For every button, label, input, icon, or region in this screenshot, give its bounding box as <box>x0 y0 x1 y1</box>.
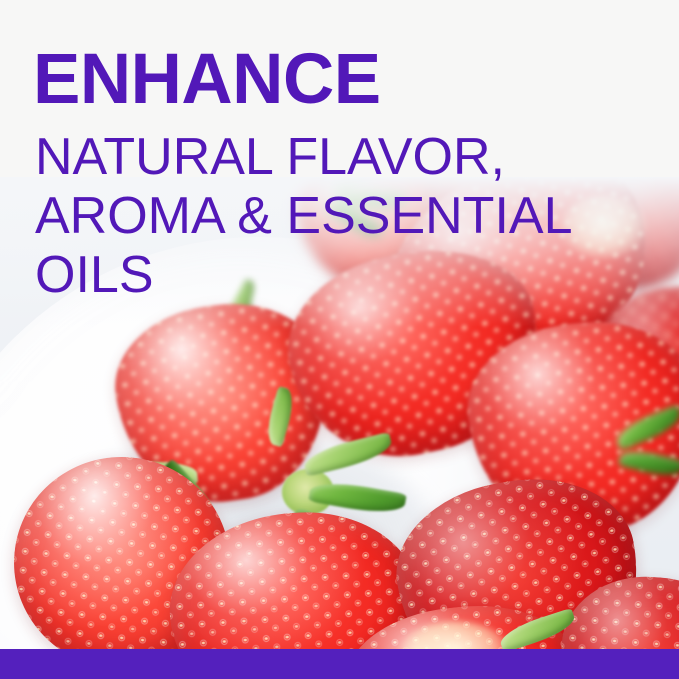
bottom-accent-bar <box>0 649 679 679</box>
strawberry-hero-highlight <box>560 195 646 259</box>
subheadline-line-2: AROMA & ESSENTIAL <box>35 190 573 242</box>
subheadline-line-1: NATURAL FLAVOR, <box>35 131 505 183</box>
product-feature-banner: ENHANCE NATURAL FLAVOR, AROMA & ESSENTIA… <box>0 0 679 679</box>
subheadline-line-3: OILS <box>35 249 154 301</box>
headline: ENHANCE <box>33 44 381 115</box>
